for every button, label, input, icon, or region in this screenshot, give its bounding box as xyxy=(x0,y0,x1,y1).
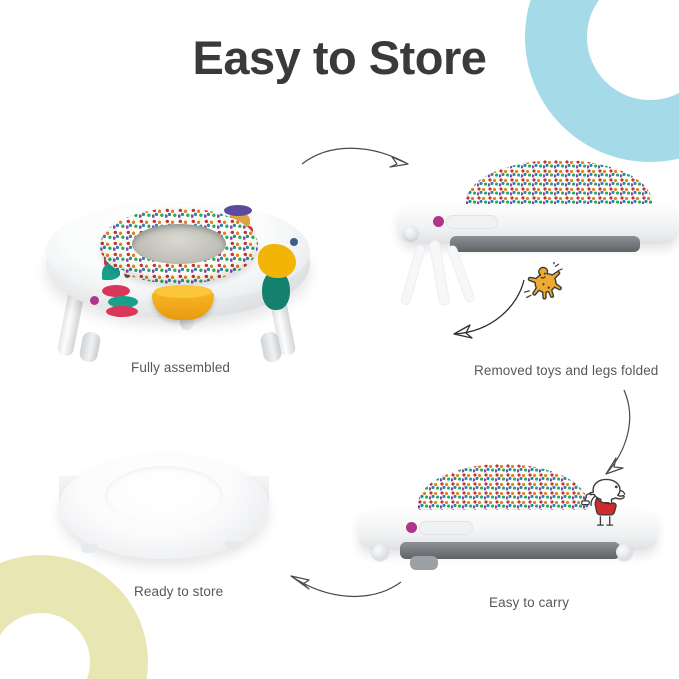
product-image-fully-assembled xyxy=(28,100,328,355)
wheel-left xyxy=(404,226,418,240)
brand-label xyxy=(446,215,498,229)
toy-stack-ring-3 xyxy=(106,306,138,317)
arrow-step1-to-step2-icon xyxy=(300,138,420,188)
page-title: Easy to Store xyxy=(0,30,679,85)
folded-leg-1 xyxy=(400,244,427,306)
gingerbread-man-icon xyxy=(524,262,566,304)
toy-right-flower xyxy=(258,244,296,278)
folded-underframe xyxy=(450,236,640,252)
disc-inner-panel xyxy=(105,466,223,526)
brand-badge xyxy=(90,296,99,305)
brand-label xyxy=(419,521,473,535)
leg-cap-left xyxy=(78,331,101,364)
disc-foot-left xyxy=(81,544,97,553)
brand-badge xyxy=(406,522,417,533)
wheel-right xyxy=(616,544,632,560)
promo-page: Easy to Store Fully assembled xyxy=(0,0,679,679)
elephant-icon xyxy=(578,470,634,528)
product-image-ready-to-store xyxy=(45,440,290,575)
arrow-step4-to-step3-icon xyxy=(283,558,403,608)
brand-badge xyxy=(433,216,444,227)
foot-left xyxy=(410,556,438,570)
caption-easy-to-carry: Easy to carry xyxy=(489,595,569,610)
caption-ready-to-store: Ready to store xyxy=(134,584,223,599)
caption-fully-assembled: Fully assembled xyxy=(131,360,230,375)
arrow-legs-fold-icon xyxy=(432,276,532,346)
disc-foot-right xyxy=(225,541,241,550)
caption-legs-folded: Removed toys and legs folded xyxy=(474,363,658,378)
seat-opening xyxy=(132,224,226,264)
